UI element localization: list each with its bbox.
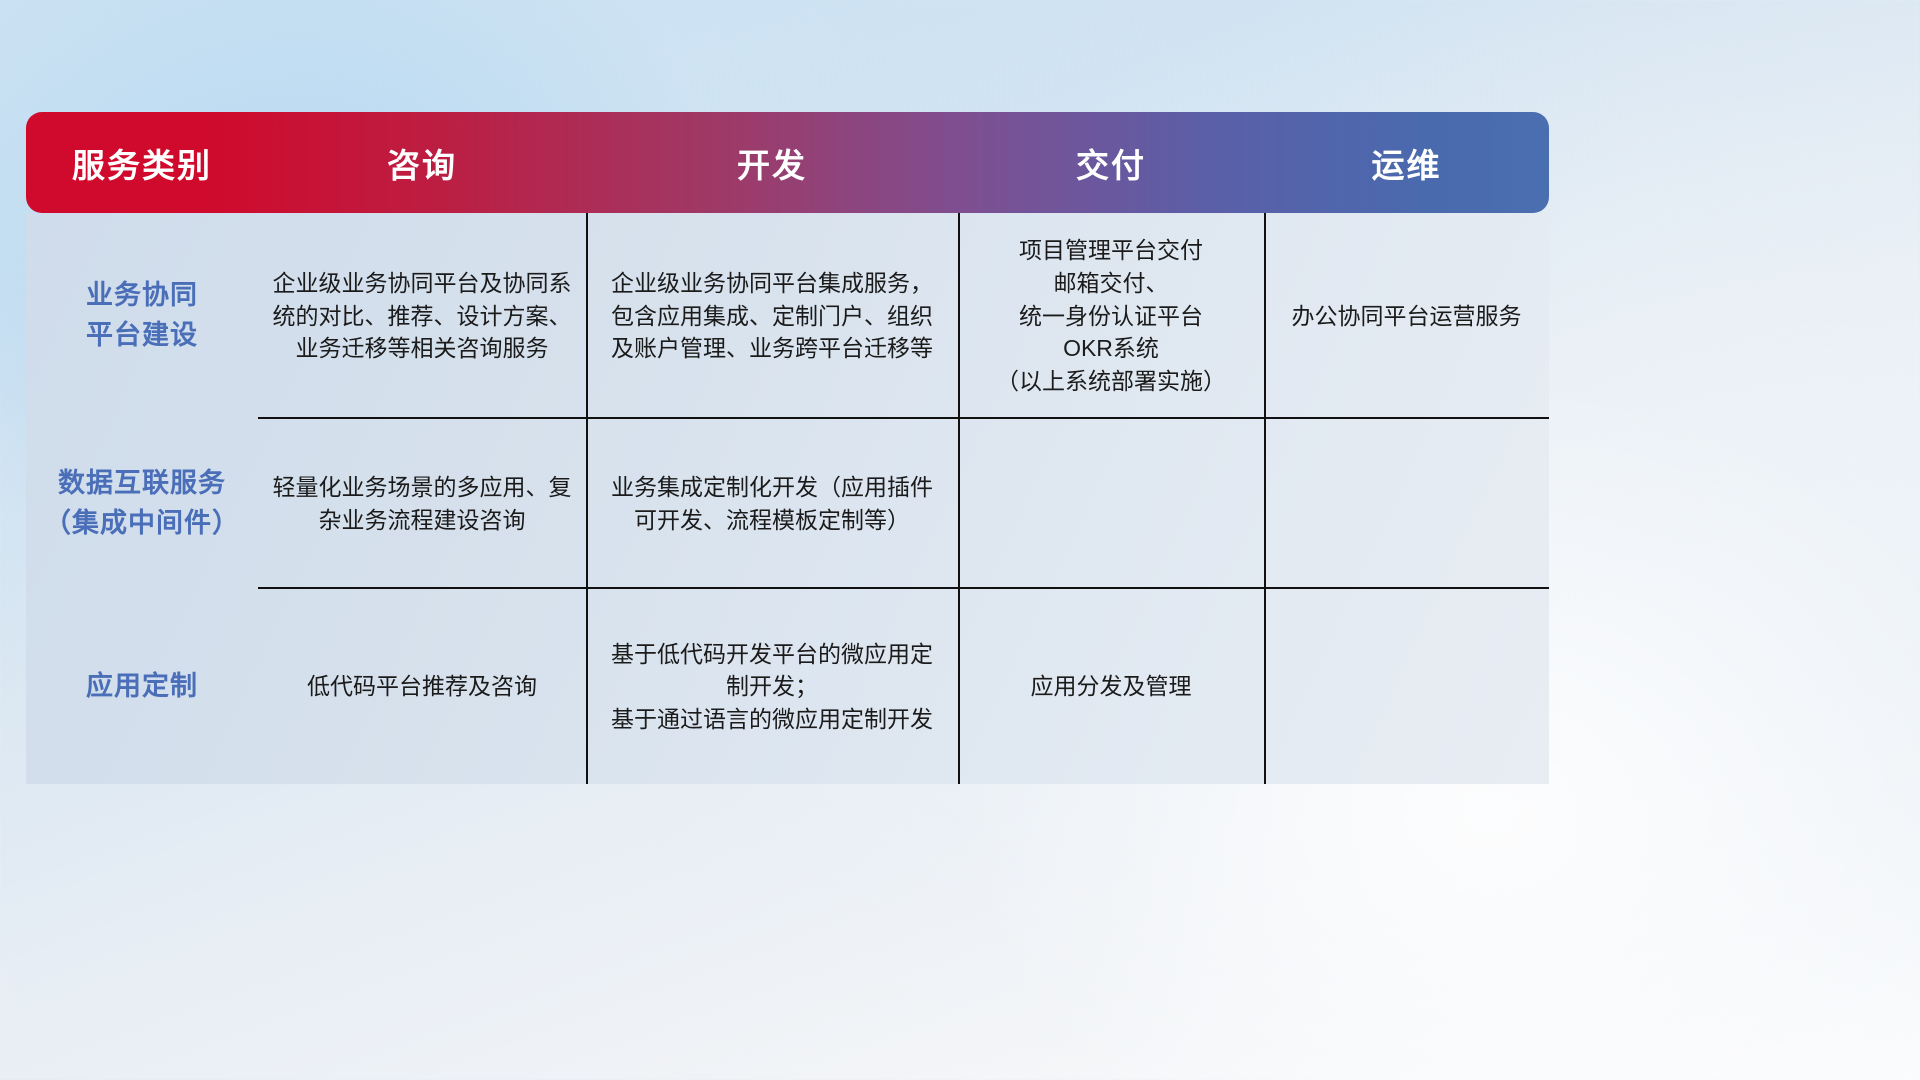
cell-operations xyxy=(1264,589,1549,784)
table-body: 业务协同 平台建设 企业级业务协同平台及协同系 统的对比、推荐、设计方案、 业务… xyxy=(26,213,1549,784)
cell-operations: 办公协同平台运营服务 xyxy=(1264,213,1549,419)
service-matrix-table: 服务类别 咨询 开发 交付 运维 业务协同 平台建设 企业级业务协同平台及协同系… xyxy=(26,112,1549,784)
header-cell-category: 服务类别 xyxy=(26,112,258,213)
cell-delivery xyxy=(958,419,1264,589)
table-header: 服务类别 咨询 开发 交付 运维 xyxy=(26,112,1549,213)
table-row: 业务协同 平台建设 企业级业务协同平台及协同系 统的对比、推荐、设计方案、 业务… xyxy=(26,213,1549,419)
cell-consulting: 低代码平台推荐及咨询 xyxy=(258,589,586,784)
header-row: 服务类别 咨询 开发 交付 运维 xyxy=(26,112,1549,213)
cell-delivery: 项目管理平台交付 邮箱交付、 统一身份认证平台 OKR系统 （以上系统部署实施） xyxy=(958,213,1264,419)
table-row: 数据互联服务 （集成中间件） 轻量化业务场景的多应用、复 杂业务流程建设咨询 业… xyxy=(26,419,1549,589)
cell-consulting: 轻量化业务场景的多应用、复 杂业务流程建设咨询 xyxy=(258,419,586,589)
cell-development: 企业级业务协同平台集成服务， 包含应用集成、定制门户、组织 及账户管理、业务跨平… xyxy=(586,213,958,419)
cell-development: 业务集成定制化开发（应用插件 可开发、流程模板定制等） xyxy=(586,419,958,589)
header-cell-delivery: 交付 xyxy=(958,112,1264,213)
row-category-label: 业务协同 平台建设 xyxy=(26,213,258,419)
cell-consulting: 企业级业务协同平台及协同系 统的对比、推荐、设计方案、 业务迁移等相关咨询服务 xyxy=(258,213,586,419)
row-category-label: 应用定制 xyxy=(26,589,258,784)
service-matrix-container: 服务类别 咨询 开发 交付 运维 业务协同 平台建设 企业级业务协同平台及协同系… xyxy=(26,112,1549,784)
cell-development: 基于低代码开发平台的微应用定 制开发； 基于通过语言的微应用定制开发 xyxy=(586,589,958,784)
table-row: 应用定制 低代码平台推荐及咨询 基于低代码开发平台的微应用定 制开发； 基于通过… xyxy=(26,589,1549,784)
cell-delivery: 应用分发及管理 xyxy=(958,589,1264,784)
header-cell-operations: 运维 xyxy=(1264,112,1549,213)
cell-operations xyxy=(1264,419,1549,589)
row-category-label: 数据互联服务 （集成中间件） xyxy=(26,419,258,589)
header-cell-consulting: 咨询 xyxy=(258,112,586,213)
header-cell-development: 开发 xyxy=(586,112,958,213)
